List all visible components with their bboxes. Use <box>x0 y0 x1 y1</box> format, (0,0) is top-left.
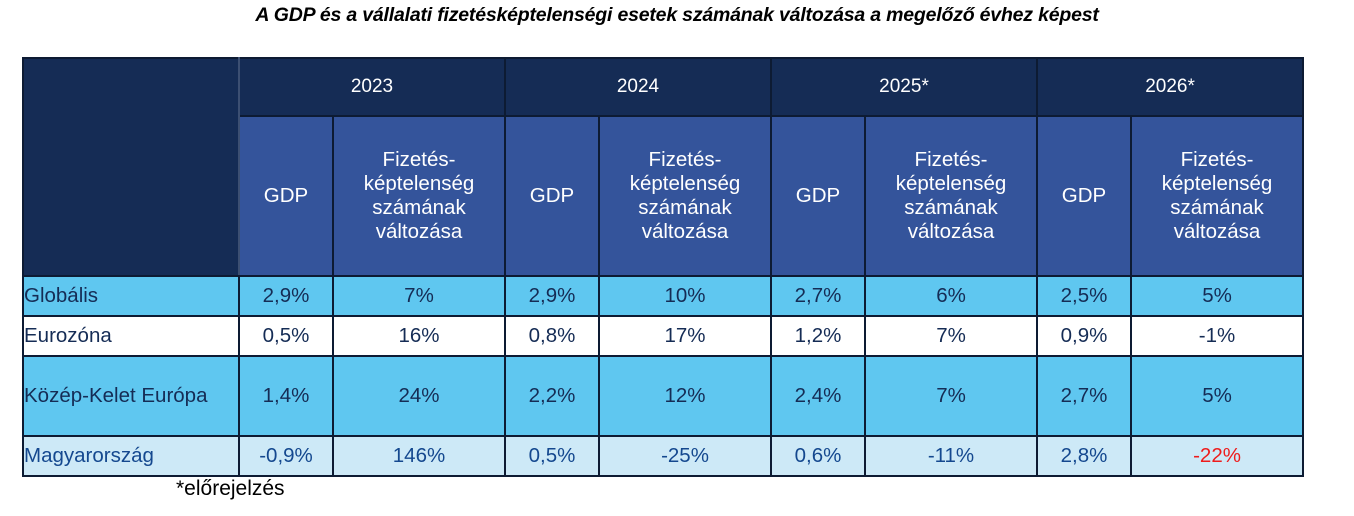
year-header-2026: 2026* <box>1037 58 1303 116</box>
cell-kke-2026-insolvency: 5% <box>1131 356 1303 436</box>
cell-globalis-2023-gdp: 2,9% <box>239 276 333 316</box>
cell-globalis-2025-gdp: 2,7% <box>771 276 865 316</box>
year-header-2025: 2025* <box>771 58 1037 116</box>
page-root: A GDP és a vállalati fizetésképtelenségi… <box>0 0 1354 516</box>
cell-eurozona-2023-gdp: 0,5% <box>239 316 333 356</box>
table-row: Globális 2,9% 7% 2,9% 10% 2,7% 6% 2,5% 5… <box>23 276 1303 316</box>
forecast-footnote: *előrejelzés <box>176 477 285 501</box>
cell-magyarorszag-2024-gdp: 0,5% <box>505 436 599 476</box>
row-label-kozep-kelet-europa: Közép-Kelet Európa <box>23 356 239 436</box>
cell-eurozona-2026-insolvency: -1% <box>1131 316 1303 356</box>
table-body: Globális 2,9% 7% 2,9% 10% 2,7% 6% 2,5% 5… <box>23 276 1303 476</box>
cell-eurozona-2026-gdp: 0,9% <box>1037 316 1131 356</box>
cell-eurozona-2025-insolvency: 7% <box>865 316 1037 356</box>
cell-globalis-2026-gdp: 2,5% <box>1037 276 1131 316</box>
cell-eurozona-2024-insolvency: 17% <box>599 316 771 356</box>
cell-magyarorszag-2026-insolvency: -22% <box>1131 436 1303 476</box>
cell-kke-2025-insolvency: 7% <box>865 356 1037 436</box>
year-header-2024: 2024 <box>505 58 771 116</box>
table-row-highlighted: Magyarország -0,9% 146% 0,5% -25% 0,6% -… <box>23 436 1303 476</box>
cell-globalis-2024-insolvency: 10% <box>599 276 771 316</box>
metric-header-gdp-2024: GDP <box>505 116 599 276</box>
cell-globalis-2025-insolvency: 6% <box>865 276 1037 316</box>
metric-header-insolvency-2025: Fizetés- képtelenség számának változása <box>865 116 1037 276</box>
gdp-insolvency-table: 2023 2024 2025* 2026* GDP Fizetés- képte… <box>22 57 1304 477</box>
year-header-row: 2023 2024 2025* 2026* <box>23 58 1303 116</box>
cell-eurozona-2024-gdp: 0,8% <box>505 316 599 356</box>
cell-kke-2024-insolvency: 12% <box>599 356 771 436</box>
cell-kke-2026-gdp: 2,7% <box>1037 356 1131 436</box>
metric-header-gdp-2026: GDP <box>1037 116 1131 276</box>
year-header-2023: 2023 <box>239 58 505 116</box>
metric-header-insolvency-2026: Fizetés- képtelenség számának változása <box>1131 116 1303 276</box>
cell-kke-2023-insolvency: 24% <box>333 356 505 436</box>
cell-eurozona-2023-insolvency: 16% <box>333 316 505 356</box>
cell-globalis-2026-insolvency: 5% <box>1131 276 1303 316</box>
metric-header-insolvency-2023: Fizetés- képtelenség számának változása <box>333 116 505 276</box>
cell-magyarorszag-2025-gdp: 0,6% <box>771 436 865 476</box>
cell-eurozona-2025-gdp: 1,2% <box>771 316 865 356</box>
cell-globalis-2024-gdp: 2,9% <box>505 276 599 316</box>
table-row: Közép-Kelet Európa 1,4% 24% 2,2% 12% 2,4… <box>23 356 1303 436</box>
page-title: A GDP és a vállalati fizetésképtelenségi… <box>0 4 1354 27</box>
table-corner-cell <box>23 58 239 276</box>
row-label-globalis: Globális <box>23 276 239 316</box>
cell-kke-2025-gdp: 2,4% <box>771 356 865 436</box>
cell-magyarorszag-2023-insolvency: 146% <box>333 436 505 476</box>
metric-header-gdp-2023: GDP <box>239 116 333 276</box>
cell-magyarorszag-2024-insolvency: -25% <box>599 436 771 476</box>
cell-kke-2024-gdp: 2,2% <box>505 356 599 436</box>
row-label-eurozona: Eurozóna <box>23 316 239 356</box>
table-head: 2023 2024 2025* 2026* GDP Fizetés- képte… <box>23 58 1303 276</box>
row-label-magyarorszag: Magyarország <box>23 436 239 476</box>
cell-magyarorszag-2026-gdp: 2,8% <box>1037 436 1131 476</box>
metric-header-gdp-2025: GDP <box>771 116 865 276</box>
cell-magyarorszag-2023-gdp: -0,9% <box>239 436 333 476</box>
cell-globalis-2023-insolvency: 7% <box>333 276 505 316</box>
cell-magyarorszag-2025-insolvency: -11% <box>865 436 1037 476</box>
metric-header-insolvency-2024: Fizetés- képtelenség számának változása <box>599 116 771 276</box>
cell-kke-2023-gdp: 1,4% <box>239 356 333 436</box>
table-row: Eurozóna 0,5% 16% 0,8% 17% 1,2% 7% 0,9% … <box>23 316 1303 356</box>
